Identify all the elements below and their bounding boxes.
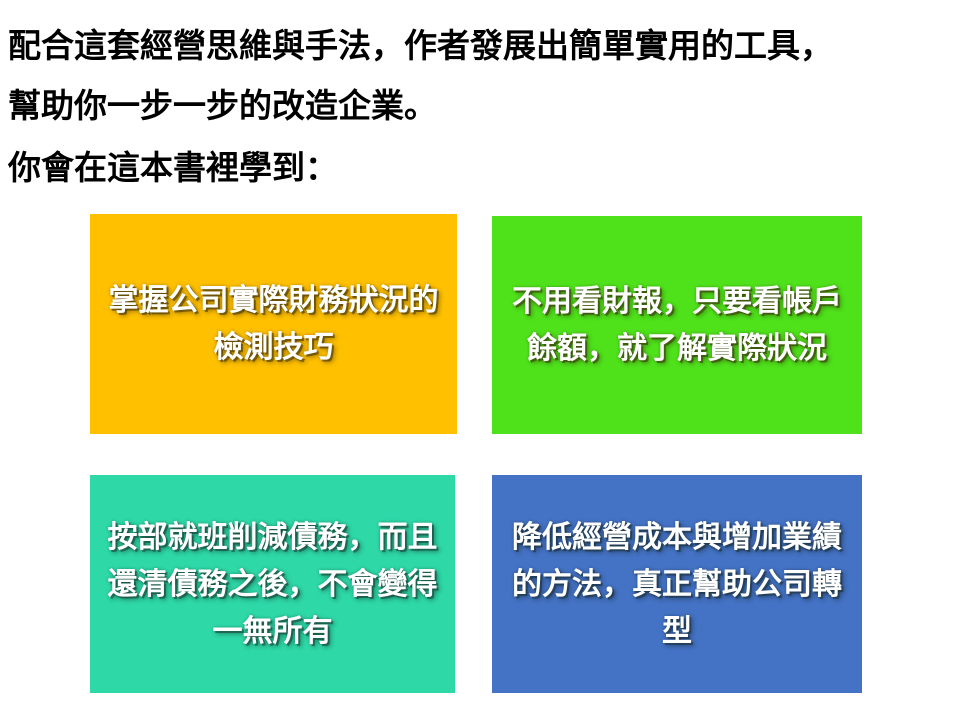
heading-line-3: 你會在這本書裡學到： bbox=[8, 138, 952, 198]
slide-canvas: 配合這套經營思維與手法，作者發展出簡單實用的工具， 幫助你一步一步的改造企業。 … bbox=[0, 0, 960, 720]
highlight-card-3: 按部就班削減債務，而且還清債務之後，不會變得一無所有 bbox=[90, 475, 455, 693]
highlight-card-1-text: 掌握公司實際財務狀況的檢測技巧 bbox=[100, 277, 447, 371]
highlight-card-1: 掌握公司實際財務狀況的檢測技巧 bbox=[90, 214, 457, 434]
highlight-card-3-text: 按部就班削減債務，而且還清債務之後，不會變得一無所有 bbox=[100, 514, 445, 655]
heading-line-2: 幫助你一步一步的改造企業。 bbox=[8, 76, 952, 136]
highlight-card-4: 降低經營成本與增加業績的方法，真正幫助公司轉型 bbox=[492, 475, 862, 693]
heading-line-1: 配合這套經營思維與手法，作者發展出簡單實用的工具， bbox=[8, 16, 952, 76]
intro-heading-block: 配合這套經營思維與手法，作者發展出簡單實用的工具， 幫助你一步一步的改造企業。 … bbox=[8, 16, 952, 198]
highlight-card-2: 不用看財報，只要看帳戶餘額，就了解實際狀況 bbox=[492, 216, 862, 434]
highlight-card-4-text: 降低經營成本與增加業績的方法，真正幫助公司轉型 bbox=[502, 514, 852, 655]
highlight-card-2-text: 不用看財報，只要看帳戶餘額，就了解實際狀況 bbox=[502, 278, 852, 372]
